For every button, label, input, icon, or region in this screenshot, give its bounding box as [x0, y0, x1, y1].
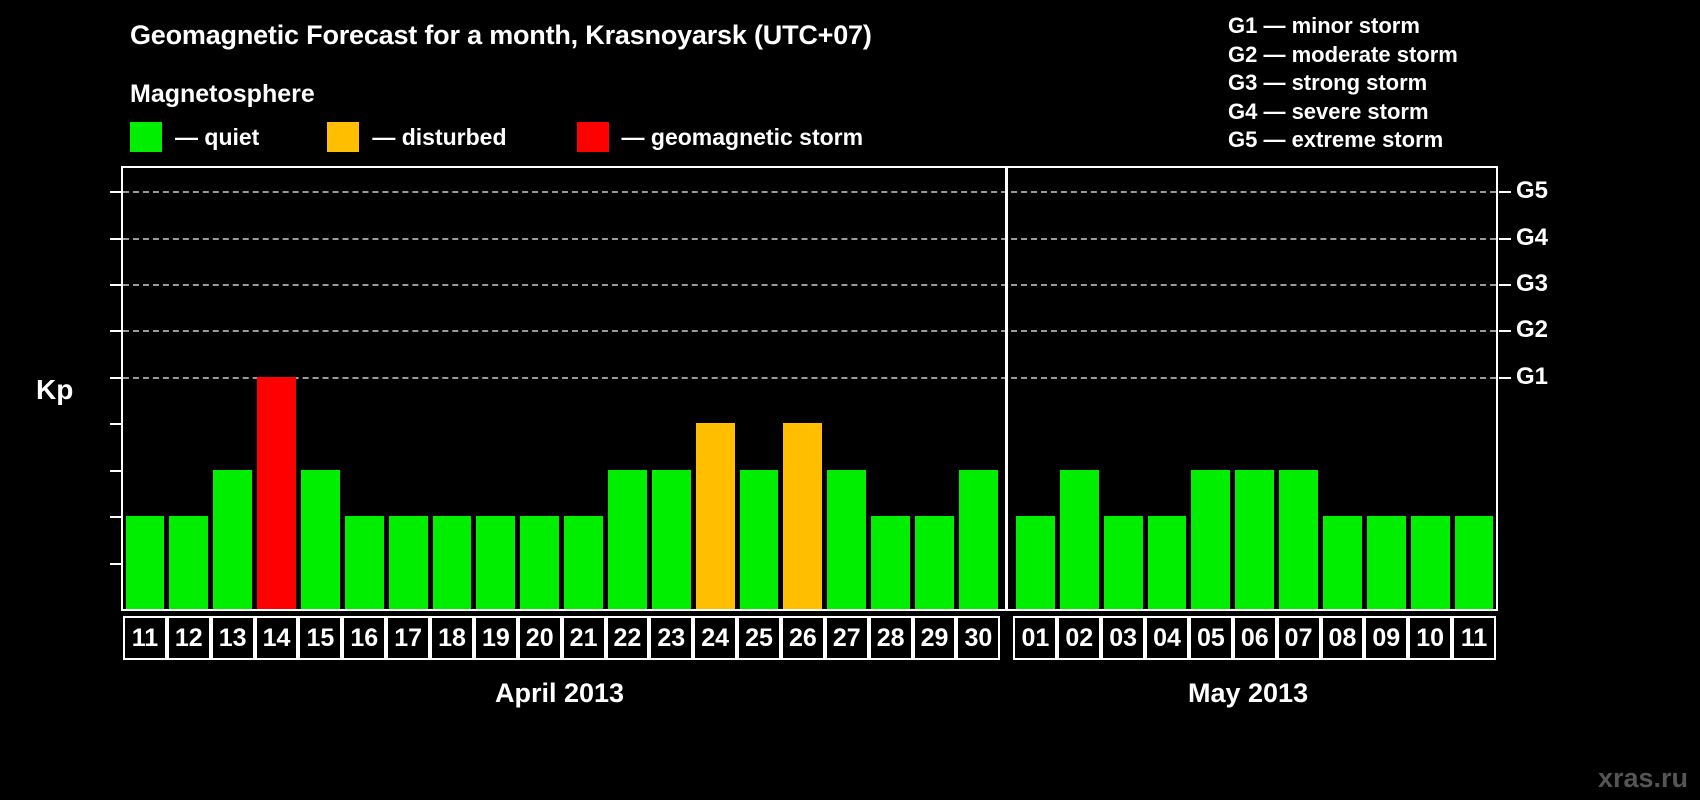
- bar-april-23[interactable]: [652, 470, 691, 609]
- bar-may-10[interactable]: [1411, 516, 1450, 609]
- magnetosphere-label: Magnetosphere: [130, 80, 315, 109]
- legend-swatch-quiet: [130, 122, 162, 152]
- day-label-april-28[interactable]: 28: [869, 616, 913, 660]
- bar-april-19[interactable]: [476, 516, 515, 609]
- bar-april-11[interactable]: [126, 516, 165, 609]
- day-label-april-25[interactable]: 25: [737, 616, 781, 660]
- day-label-april-27[interactable]: 27: [825, 616, 869, 660]
- g-scale-legend: G1 — minor storm G2 — moderate storm G3 …: [1228, 12, 1458, 155]
- bar-april-16[interactable]: [345, 516, 384, 609]
- y-tick-mark: [110, 191, 121, 193]
- day-label-may-07[interactable]: 07: [1277, 616, 1321, 660]
- legend-label-disturbed: — disturbed: [372, 124, 506, 151]
- day-label-may-02[interactable]: 02: [1057, 616, 1101, 660]
- day-label-may-03[interactable]: 03: [1101, 616, 1145, 660]
- day-axis: 1112131415161718192021222324252627282930…: [121, 616, 1498, 660]
- day-label-may-01[interactable]: 01: [1013, 616, 1057, 660]
- color-legend: — quiet — disturbed — geomagnetic storm: [130, 122, 863, 152]
- legend-swatch-disturbed: [327, 122, 359, 152]
- g-legend-row: G2 — moderate storm: [1228, 41, 1458, 70]
- g-axis-label-g2: G2: [1516, 316, 1548, 344]
- g-tick-mark: [1499, 191, 1511, 193]
- bar-april-30[interactable]: [959, 470, 998, 609]
- day-label-may-09[interactable]: 09: [1364, 616, 1408, 660]
- bar-april-27[interactable]: [827, 470, 866, 609]
- bar-april-15[interactable]: [301, 470, 340, 609]
- bar-april-12[interactable]: [169, 516, 208, 609]
- y-tick-mark: [110, 423, 121, 425]
- day-label-april-29[interactable]: 29: [913, 616, 957, 660]
- month-caption-april: April 2013: [495, 678, 624, 709]
- day-label-april-16[interactable]: 16: [342, 616, 386, 660]
- bar-april-26[interactable]: [783, 423, 822, 609]
- bar-may-11[interactable]: [1455, 516, 1494, 609]
- bar-april-17[interactable]: [389, 516, 428, 609]
- bar-may-08[interactable]: [1323, 516, 1362, 609]
- day-label-may-06[interactable]: 06: [1233, 616, 1277, 660]
- y-tick-mark: [110, 516, 121, 518]
- legend-entry-quiet: — quiet: [130, 122, 259, 152]
- g-tick-mark: [1499, 238, 1511, 240]
- day-label-april-23[interactable]: 23: [649, 616, 693, 660]
- g-axis-label-g4: G4: [1516, 224, 1548, 252]
- day-label-april-30[interactable]: 30: [956, 616, 1000, 660]
- bar-april-22[interactable]: [608, 470, 647, 609]
- bar-april-24[interactable]: [696, 423, 735, 609]
- legend-entry-disturbed: — disturbed: [327, 122, 506, 152]
- g-axis-label-g1: G1: [1516, 363, 1548, 391]
- watermark: xras.ru: [1598, 763, 1688, 794]
- day-label-may-11[interactable]: 11: [1452, 616, 1496, 660]
- bar-may-09[interactable]: [1367, 516, 1406, 609]
- day-label-april-20[interactable]: 20: [518, 616, 562, 660]
- y-tick-mark: [110, 330, 121, 332]
- bar-april-29[interactable]: [915, 516, 954, 609]
- legend-label-storm: — geomagnetic storm: [622, 124, 864, 151]
- y-tick-mark: [110, 377, 121, 379]
- day-label-may-08[interactable]: 08: [1321, 616, 1365, 660]
- month-caption-may: May 2013: [1188, 678, 1308, 709]
- day-label-april-24[interactable]: 24: [693, 616, 737, 660]
- bar-april-18[interactable]: [433, 516, 472, 609]
- bar-may-05[interactable]: [1191, 470, 1230, 609]
- day-label-april-15[interactable]: 15: [298, 616, 342, 660]
- bar-april-28[interactable]: [871, 516, 910, 609]
- bar-april-21[interactable]: [564, 516, 603, 609]
- y-tick-mark: [110, 470, 121, 472]
- bar-april-13[interactable]: [213, 470, 252, 609]
- day-label-april-13[interactable]: 13: [211, 616, 255, 660]
- page-title: Geomagnetic Forecast for a month, Krasno…: [130, 20, 872, 51]
- bar-may-07[interactable]: [1279, 470, 1318, 609]
- bar-may-01[interactable]: [1016, 516, 1055, 609]
- day-label-april-12[interactable]: 12: [167, 616, 211, 660]
- bars-layer: [123, 168, 1496, 609]
- g-axis-label-g3: G3: [1516, 270, 1548, 298]
- day-label-april-22[interactable]: 22: [606, 616, 650, 660]
- day-label-april-14[interactable]: 14: [255, 616, 299, 660]
- day-label-april-17[interactable]: 17: [386, 616, 430, 660]
- day-label-april-11[interactable]: 11: [123, 616, 167, 660]
- bar-may-06[interactable]: [1235, 470, 1274, 609]
- g-tick-mark: [1499, 377, 1511, 379]
- day-label-may-04[interactable]: 04: [1145, 616, 1189, 660]
- legend-entry-storm: — geomagnetic storm: [577, 122, 864, 152]
- g-tick-mark: [1499, 284, 1511, 286]
- bar-april-25[interactable]: [740, 470, 779, 609]
- g-tick-mark: [1499, 330, 1511, 332]
- day-label-april-26[interactable]: 26: [781, 616, 825, 660]
- bar-may-04[interactable]: [1148, 516, 1187, 609]
- day-label-april-21[interactable]: 21: [562, 616, 606, 660]
- plot-area: [121, 166, 1498, 611]
- y-axis-title: Kp: [36, 374, 73, 406]
- y-tick-mark: [110, 238, 121, 240]
- day-label-april-18[interactable]: 18: [430, 616, 474, 660]
- g-legend-row: G3 — strong storm: [1228, 69, 1458, 98]
- bar-may-02[interactable]: [1060, 470, 1099, 609]
- y-tick-mark: [110, 563, 121, 565]
- g-legend-row: G1 — minor storm: [1228, 12, 1458, 41]
- y-tick-mark: [110, 284, 121, 286]
- g-legend-row: G4 — severe storm: [1228, 98, 1458, 127]
- bar-april-14[interactable]: [257, 377, 296, 609]
- day-label-may-10[interactable]: 10: [1408, 616, 1452, 660]
- day-label-april-19[interactable]: 19: [474, 616, 518, 660]
- g-axis-label-g5: G5: [1516, 177, 1548, 205]
- g-legend-row: G5 — extreme storm: [1228, 126, 1458, 155]
- bar-april-20[interactable]: [520, 516, 559, 609]
- day-label-may-05[interactable]: 05: [1189, 616, 1233, 660]
- legend-swatch-storm: [577, 122, 609, 152]
- legend-label-quiet: — quiet: [175, 124, 259, 151]
- bar-may-03[interactable]: [1104, 516, 1143, 609]
